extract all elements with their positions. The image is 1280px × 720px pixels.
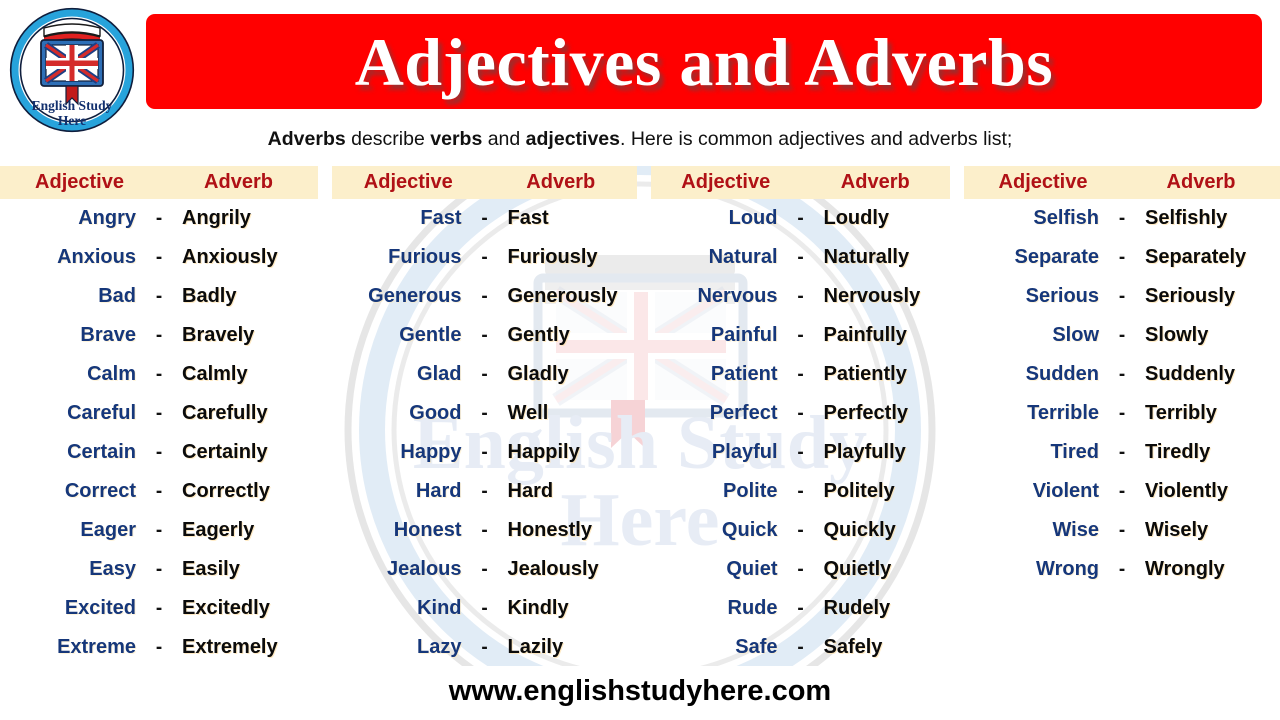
adjective-cell: Bad — [0, 285, 146, 308]
word-pair-row: Patient-Patiently — [651, 355, 950, 394]
separator-dash: - — [1109, 481, 1135, 503]
adjective-cell: Jealous — [332, 558, 472, 581]
column-header-adverb: Adverb — [801, 171, 951, 194]
separator-dash: - — [472, 481, 498, 503]
subtitle-text-1: describe — [346, 128, 431, 150]
adverb-cell: Painfully — [814, 324, 951, 347]
word-list-columns: Adjective Adverb Angry-AngrilyAnxious-An… — [0, 166, 1280, 667]
word-pair-row: Careful-Carefully — [0, 394, 318, 433]
adjective-cell: Natural — [651, 246, 788, 269]
word-pair-row: Selfish-Selfishly — [964, 199, 1280, 238]
separator-dash: - — [788, 520, 814, 542]
word-column-4: Adjective Adverb Selfish-SelfishlySepara… — [964, 166, 1280, 667]
separator-dash: - — [472, 598, 498, 620]
adverb-cell: Extremely — [172, 636, 318, 659]
separator-dash: - — [472, 559, 498, 581]
adjective-cell: Lazy — [332, 636, 472, 659]
adjective-cell: Wrong — [964, 558, 1109, 581]
adjective-cell: Gentle — [332, 324, 472, 347]
adjective-cell: Fast — [332, 207, 472, 230]
separator-dash: - — [146, 637, 172, 659]
word-pair-row: Serious-Seriously — [964, 277, 1280, 316]
word-pair-row: Lazy-Lazily — [332, 628, 637, 667]
adjective-cell: Sudden — [964, 363, 1109, 386]
separator-dash: - — [788, 208, 814, 230]
separator-dash: - — [788, 403, 814, 425]
separator-dash: - — [1109, 442, 1135, 464]
separator-dash: - — [472, 637, 498, 659]
separator-dash: - — [472, 325, 498, 347]
subtitle-word-verbs: verbs — [430, 128, 482, 150]
column-header-1: Adjective Adverb — [0, 166, 318, 199]
adjective-cell: Quiet — [651, 558, 788, 581]
adverb-cell: Calmly — [172, 363, 318, 386]
adverb-cell: Lazily — [498, 636, 638, 659]
column-header-adjective: Adjective — [651, 171, 801, 194]
adverb-cell: Fast — [498, 207, 638, 230]
adjective-cell: Calm — [0, 363, 146, 386]
adverb-cell: Easily — [172, 558, 318, 581]
adverb-cell: Excitedly — [172, 597, 318, 620]
separator-dash: - — [146, 364, 172, 386]
column-header-2: Adjective Adverb — [332, 166, 637, 199]
separator-dash: - — [146, 442, 172, 464]
word-pair-row: Fast-Fast — [332, 199, 637, 238]
word-pair-row: Polite-Politely — [651, 472, 950, 511]
separator-dash: - — [1109, 208, 1135, 230]
word-pair-row: Playful-Playfully — [651, 433, 950, 472]
column-gap — [637, 166, 651, 667]
separator-dash: - — [146, 208, 172, 230]
word-pair-row: Slow-Slowly — [964, 316, 1280, 355]
adverb-cell: Rudely — [814, 597, 951, 620]
column-body-3: Loud-LoudlyNatural-NaturallyNervous-Nerv… — [651, 199, 950, 667]
adjective-cell: Happy — [332, 441, 472, 464]
column-header-adverb: Adverb — [1122, 171, 1280, 194]
adverb-cell: Angrily — [172, 207, 318, 230]
column-header-adverb: Adverb — [485, 171, 638, 194]
adjective-cell: Kind — [332, 597, 472, 620]
title-banner: Adjectives and Adverbs — [146, 14, 1262, 109]
adjective-cell: Painful — [651, 324, 788, 347]
adjective-cell: Correct — [0, 480, 146, 503]
separator-dash: - — [146, 286, 172, 308]
adjective-cell: Rude — [651, 597, 788, 620]
logo: English Study Here — [8, 6, 136, 134]
word-pair-row: Certain-Certainly — [0, 433, 318, 472]
adjective-cell: Extreme — [0, 636, 146, 659]
separator-dash: - — [788, 598, 814, 620]
adjective-cell: Wise — [964, 519, 1109, 542]
word-pair-row: Excited-Excitedly — [0, 589, 318, 628]
separator-dash: - — [1109, 520, 1135, 542]
separator-dash: - — [472, 520, 498, 542]
word-pair-row: Nervous-Nervously — [651, 277, 950, 316]
word-pair-row: Furious-Furiously — [332, 238, 637, 277]
adverb-cell: Seriously — [1135, 285, 1280, 308]
adverb-cell: Patiently — [814, 363, 951, 386]
adverb-cell: Jealously — [498, 558, 638, 581]
subtitle: Adverbs describe verbs and adjectives. H… — [0, 128, 1280, 151]
column-body-1: Angry-AngrilyAnxious-AnxiouslyBad-BadlyB… — [0, 199, 318, 667]
word-pair-row: Wrong-Wrongly — [964, 550, 1280, 589]
word-pair-row: Natural-Naturally — [651, 238, 950, 277]
adverb-cell: Gently — [498, 324, 638, 347]
column-gap — [318, 166, 332, 667]
separator-dash: - — [1109, 403, 1135, 425]
adjective-cell: Generous — [332, 285, 472, 308]
adverb-cell: Selfishly — [1135, 207, 1280, 230]
adjective-cell: Violent — [964, 480, 1109, 503]
adverb-cell: Generously — [498, 285, 638, 308]
adjective-cell: Honest — [332, 519, 472, 542]
separator-dash: - — [146, 559, 172, 581]
footer-website: www.englishstudyhere.com — [0, 675, 1280, 708]
separator-dash: - — [472, 364, 498, 386]
separator-dash: - — [1109, 247, 1135, 269]
adverb-cell: Suddenly — [1135, 363, 1280, 386]
word-pair-row: Terrible-Terribly — [964, 394, 1280, 433]
word-pair-row: Gentle-Gently — [332, 316, 637, 355]
word-pair-row: Hard-Hard — [332, 472, 637, 511]
adjective-cell: Slow — [964, 324, 1109, 347]
logo-text-line2: Here — [58, 113, 86, 128]
adverb-cell: Loudly — [814, 207, 951, 230]
adjective-cell: Furious — [332, 246, 472, 269]
adverb-cell: Eagerly — [172, 519, 318, 542]
word-pair-row: Violent-Violently — [964, 472, 1280, 511]
column-header-3: Adjective Adverb — [651, 166, 950, 199]
column-header-adjective: Adjective — [964, 171, 1122, 194]
word-pair-row: Brave-Bravely — [0, 316, 318, 355]
subtitle-text-2: and — [482, 128, 525, 150]
adjective-cell: Anxious — [0, 246, 146, 269]
adverb-cell: Certainly — [172, 441, 318, 464]
word-pair-row: Calm-Calmly — [0, 355, 318, 394]
separator-dash: - — [788, 481, 814, 503]
adjective-cell: Tired — [964, 441, 1109, 464]
adverb-cell: Bravely — [172, 324, 318, 347]
word-pair-row: Easy-Easily — [0, 550, 318, 589]
word-pair-row: Sudden-Suddenly — [964, 355, 1280, 394]
separator-dash: - — [788, 442, 814, 464]
column-header-adjective: Adjective — [0, 171, 159, 194]
adjective-cell: Terrible — [964, 402, 1109, 425]
word-pair-row: Honest-Honestly — [332, 511, 637, 550]
word-pair-row: Separate-Separately — [964, 238, 1280, 277]
adjective-cell: Perfect — [651, 402, 788, 425]
word-pair-row: Good-Well — [332, 394, 637, 433]
adjective-cell: Careful — [0, 402, 146, 425]
adverb-cell: Terribly — [1135, 402, 1280, 425]
adverb-cell: Furiously — [498, 246, 638, 269]
adverb-cell: Hard — [498, 480, 638, 503]
column-header-4: Adjective Adverb — [964, 166, 1280, 199]
separator-dash: - — [788, 286, 814, 308]
adverb-cell: Carefully — [172, 402, 318, 425]
separator-dash: - — [146, 598, 172, 620]
adverb-cell: Happily — [498, 441, 638, 464]
adverb-cell: Slowly — [1135, 324, 1280, 347]
adjective-cell: Safe — [651, 636, 788, 659]
word-pair-row: Safe-Safely — [651, 628, 950, 667]
separator-dash: - — [1109, 286, 1135, 308]
adjective-cell: Loud — [651, 207, 788, 230]
adverb-cell: Honestly — [498, 519, 638, 542]
separator-dash: - — [146, 481, 172, 503]
page-title: Adjectives and Adverbs — [355, 28, 1054, 96]
word-pair-row: Correct-Correctly — [0, 472, 318, 511]
separator-dash: - — [788, 364, 814, 386]
word-pair-row: Tired-Tiredly — [964, 433, 1280, 472]
word-pair-row: Angry-Angrily — [0, 199, 318, 238]
column-header-adverb: Adverb — [159, 171, 318, 194]
adjective-cell: Certain — [0, 441, 146, 464]
adjective-cell: Playful — [651, 441, 788, 464]
adjective-cell: Patient — [651, 363, 788, 386]
word-pair-row: Jealous-Jealously — [332, 550, 637, 589]
adverb-cell: Correctly — [172, 480, 318, 503]
adjective-cell: Nervous — [651, 285, 788, 308]
adjective-cell: Glad — [332, 363, 472, 386]
adverb-cell: Kindly — [498, 597, 638, 620]
separator-dash: - — [472, 208, 498, 230]
adverb-cell: Gladly — [498, 363, 638, 386]
adverb-cell: Violently — [1135, 480, 1280, 503]
separator-dash: - — [788, 637, 814, 659]
subtitle-word-adverbs: Adverbs — [268, 128, 346, 150]
adverb-cell: Anxiously — [172, 246, 318, 269]
adverb-cell: Badly — [172, 285, 318, 308]
word-column-2: Adjective Adverb Fast-FastFurious-Furiou… — [332, 166, 637, 667]
adjective-cell: Angry — [0, 207, 146, 230]
adverb-cell: Politely — [814, 480, 951, 503]
word-pair-row: Extreme-Extremely — [0, 628, 318, 667]
adjective-cell: Good — [332, 402, 472, 425]
adverb-cell: Perfectly — [814, 402, 951, 425]
word-pair-row: Anxious-Anxiously — [0, 238, 318, 277]
adverb-cell: Separately — [1135, 246, 1280, 269]
column-body-4: Selfish-SelfishlySeparate-SeparatelySeri… — [964, 199, 1280, 589]
adverb-cell: Well — [498, 402, 638, 425]
adjective-cell: Selfish — [964, 207, 1109, 230]
adjective-cell: Polite — [651, 480, 788, 503]
adverb-cell: Safely — [814, 636, 951, 659]
word-pair-row: Happy-Happily — [332, 433, 637, 472]
subtitle-word-adjectives: adjectives — [526, 128, 620, 150]
word-pair-row: Painful-Painfully — [651, 316, 950, 355]
word-pair-row: Bad-Badly — [0, 277, 318, 316]
separator-dash: - — [146, 520, 172, 542]
separator-dash: - — [472, 286, 498, 308]
adverb-cell: Quietly — [814, 558, 951, 581]
separator-dash: - — [472, 247, 498, 269]
adjective-cell: Easy — [0, 558, 146, 581]
word-pair-row: Eager-Eagerly — [0, 511, 318, 550]
adverb-cell: Tiredly — [1135, 441, 1280, 464]
word-pair-row: Quick-Quickly — [651, 511, 950, 550]
word-column-1: Adjective Adverb Angry-AngrilyAnxious-An… — [0, 166, 318, 667]
separator-dash: - — [146, 403, 172, 425]
column-body-2: Fast-FastFurious-FuriouslyGenerous-Gener… — [332, 199, 637, 667]
adjective-cell: Brave — [0, 324, 146, 347]
word-pair-row: Perfect-Perfectly — [651, 394, 950, 433]
separator-dash: - — [1109, 364, 1135, 386]
adjective-cell: Eager — [0, 519, 146, 542]
column-header-adjective: Adjective — [332, 171, 485, 194]
adverb-cell: Wrongly — [1135, 558, 1280, 581]
adverb-cell: Naturally — [814, 246, 951, 269]
adverb-cell: Nervously — [814, 285, 951, 308]
word-column-3: Adjective Adverb Loud-LoudlyNatural-Natu… — [651, 166, 950, 667]
word-pair-row: Loud-Loudly — [651, 199, 950, 238]
adjective-cell: Separate — [964, 246, 1109, 269]
separator-dash: - — [146, 247, 172, 269]
word-pair-row: Quiet-Quietly — [651, 550, 950, 589]
adverb-cell: Quickly — [814, 519, 951, 542]
separator-dash: - — [472, 403, 498, 425]
separator-dash: - — [788, 559, 814, 581]
adverb-cell: Playfully — [814, 441, 951, 464]
page-header: Adjectives and Adverbs — [0, 0, 1280, 122]
adjective-cell: Excited — [0, 597, 146, 620]
word-pair-row: Kind-Kindly — [332, 589, 637, 628]
separator-dash: - — [1109, 325, 1135, 347]
separator-dash: - — [1109, 559, 1135, 581]
adjective-cell: Serious — [964, 285, 1109, 308]
word-pair-row: Generous-Generously — [332, 277, 637, 316]
separator-dash: - — [788, 325, 814, 347]
separator-dash: - — [472, 442, 498, 464]
separator-dash: - — [146, 325, 172, 347]
adjective-cell: Quick — [651, 519, 788, 542]
word-pair-row: Rude-Rudely — [651, 589, 950, 628]
column-gap — [950, 166, 964, 667]
separator-dash: - — [788, 247, 814, 269]
word-pair-row: Wise-Wisely — [964, 511, 1280, 550]
adjective-cell: Hard — [332, 480, 472, 503]
adverb-cell: Wisely — [1135, 519, 1280, 542]
word-pair-row: Glad-Gladly — [332, 355, 637, 394]
logo-text-line1: English Study — [32, 98, 113, 113]
subtitle-text-3: . Here is common adjectives and adverbs … — [620, 128, 1012, 150]
